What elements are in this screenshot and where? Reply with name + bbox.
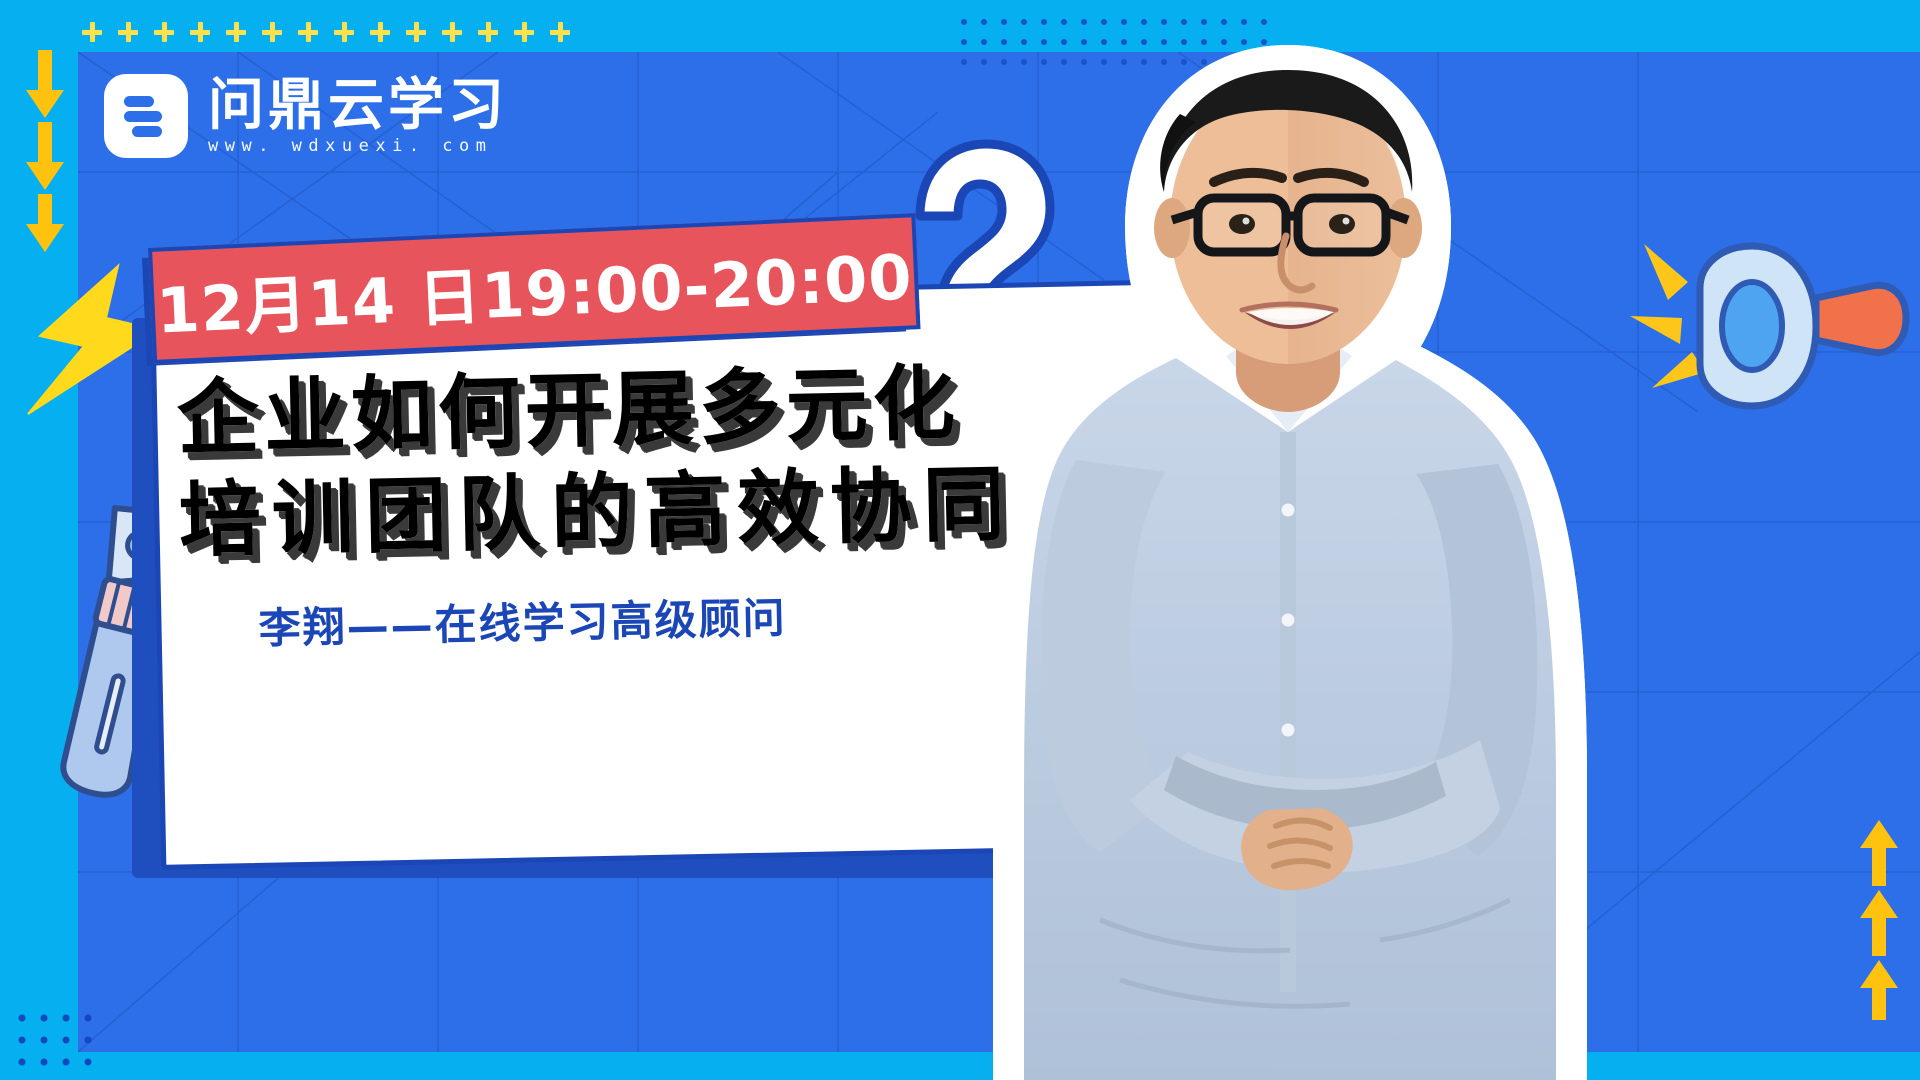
plus-sign-icon: [514, 22, 534, 42]
megaphone-icon: [1630, 230, 1910, 450]
plus-pattern-top: [82, 22, 570, 42]
plus-sign-icon: [370, 22, 390, 42]
plus-sign-icon: [226, 22, 246, 42]
brand-name: 问鼎云学习: [208, 78, 508, 134]
plus-sign-icon: [334, 22, 354, 42]
plus-sign-icon: [154, 22, 174, 42]
brand-url: www. wdxuexi. com: [208, 138, 508, 155]
plus-sign-icon: [442, 22, 462, 42]
speaker-text: 李翔——在线学习高级顾问: [258, 584, 787, 656]
poster-canvas: 问鼎云学习 www. wdxuexi. com 12月14 日19:00-20:…: [0, 0, 1920, 1080]
date-time-text: 12月14 日19:00-20:00: [154, 226, 914, 350]
plus-sign-icon: [406, 22, 426, 42]
plus-sign-icon: [262, 22, 282, 42]
plus-sign-icon: [298, 22, 318, 42]
book-list-icon: [118, 88, 174, 144]
dot-grid-pattern-bottom-left: [16, 1010, 136, 1080]
down-arrow-icon-group: [18, 50, 72, 260]
plus-sign-icon: [190, 22, 210, 42]
presenter-photo: [980, 40, 1600, 1080]
logo-text-block: 问鼎云学习 www. wdxuexi. com: [208, 78, 508, 155]
logo-mark: [104, 74, 188, 158]
plus-sign-icon: [118, 22, 138, 42]
plus-sign-icon: [82, 22, 102, 42]
up-arrow-icon-group: [1852, 820, 1906, 1020]
plus-sign-icon: [550, 22, 570, 42]
plus-sign-icon: [478, 22, 498, 42]
brand-logo[interactable]: 问鼎云学习 www. wdxuexi. com: [104, 74, 508, 158]
